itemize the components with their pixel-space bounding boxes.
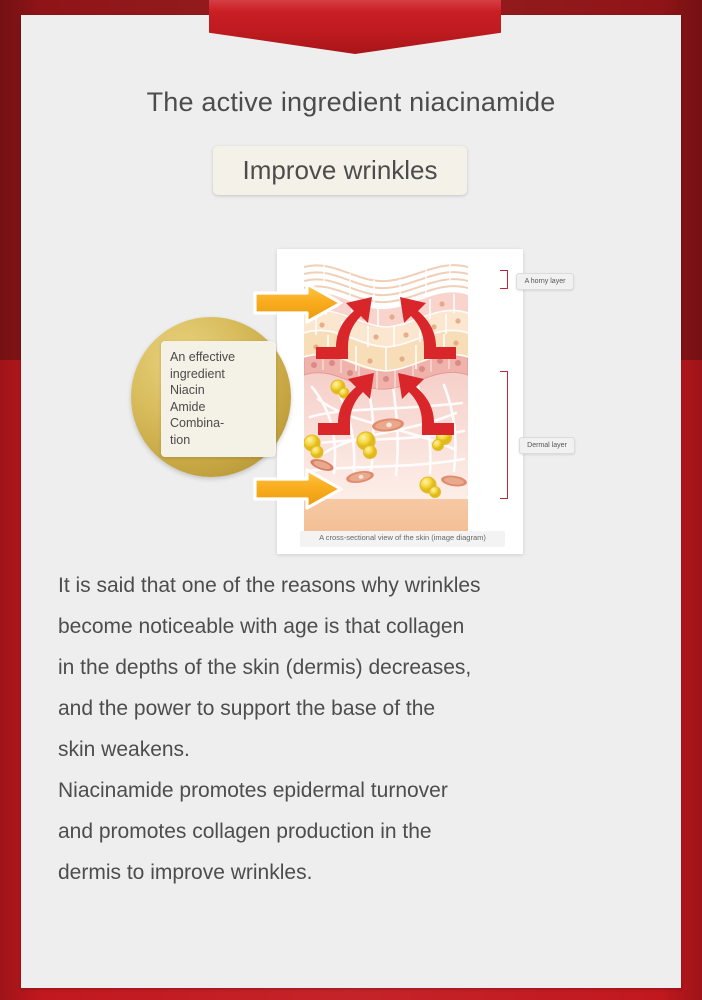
diagram-caption: A cross-sectional view of the skin (imag… [300,531,505,547]
ingredient-callout-note: An effective ingredient Niacin Amide Com… [161,341,276,457]
promo-page: The active ingredient niacinamide シワを改善 … [0,0,702,1000]
horny-layer-bracket [500,270,508,289]
dermal-layer-label: Dermal layer [519,437,575,454]
orange-arrow-top-icon [252,280,344,331]
improve-wrinkles-chip-label: Improve wrinkles [242,155,437,186]
improve-wrinkles-chip: Improve wrinkles [213,146,467,195]
body-paragraph: It is said that one of the reasons why w… [58,565,628,893]
orange-arrow-bottom-icon [252,466,344,517]
banner-highlight [209,0,501,12]
page-title: The active ingredient niacinamide [21,87,681,118]
dermal-layer-bracket [500,371,508,499]
horny-layer-label: A horny layer [516,273,574,290]
